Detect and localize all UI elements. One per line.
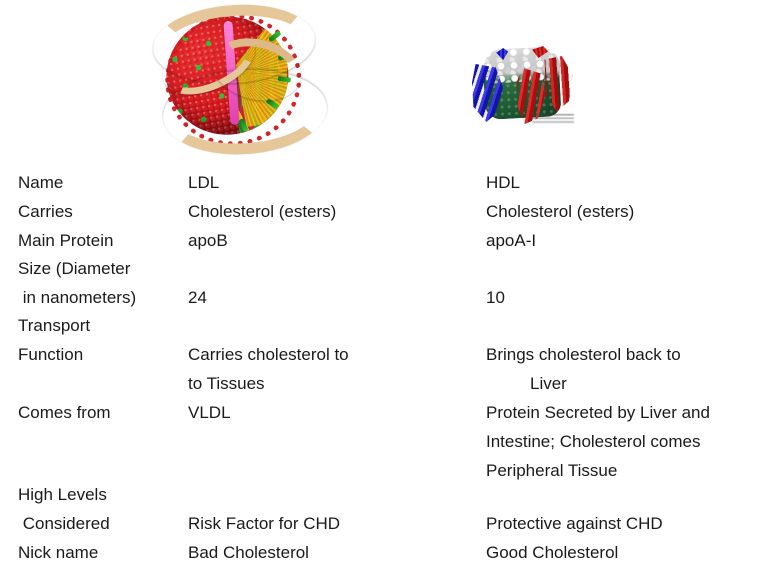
row-value-ldl-size: 24 (188, 285, 207, 311)
row-value-ldl-main-protein: apoB (188, 228, 228, 254)
row-label-carries: Carries (18, 199, 73, 225)
row-label-comes-from: Comes from (18, 400, 111, 426)
row-value-hdl-transport-line1: Brings cholesterol back to (486, 342, 681, 368)
row-label-name: Name (18, 170, 63, 196)
row-value-hdl-size: 10 (486, 285, 505, 311)
row-label-transport-line2: Function (18, 342, 83, 368)
hdl-image-credit (532, 114, 574, 123)
row-label-size-line2: in nanometers) (18, 285, 136, 311)
ldl-particle-image (160, 8, 302, 138)
row-label-high-levels-line2: Considered (18, 511, 110, 537)
row-value-ldl-comes-from: VLDL (188, 400, 231, 426)
row-label-high-levels-line1: High Levels (18, 482, 107, 508)
row-value-ldl-name: LDL (188, 170, 219, 196)
row-value-hdl-transport-line2: Liver (486, 371, 567, 397)
row-value-hdl-comes-from-line3: Peripheral Tissue (486, 458, 617, 484)
row-value-ldl-nick-name: Bad Cholesterol (188, 540, 309, 566)
row-label-transport-line1: Transport (18, 313, 90, 339)
row-value-hdl-comes-from-line2: Intestine; Cholesterol comes (486, 429, 701, 455)
ldl-particle-stage (150, 0, 312, 149)
row-value-ldl-transport-line1: Carries cholesterol to (188, 342, 349, 368)
row-value-ldl-high-levels: Risk Factor for CHD (188, 511, 340, 537)
row-label-size-line1: Size (Diameter (18, 256, 130, 282)
row-value-hdl-main-protein: apoA-I (486, 228, 536, 254)
row-label-nick-name: Nick name (18, 540, 98, 566)
row-value-ldl-transport-line2: to Tissues (188, 371, 265, 397)
row-value-hdl-name: HDL (486, 170, 520, 196)
row-value-hdl-comes-from-line1: Protein Secreted by Liver and (486, 400, 710, 426)
row-value-ldl-carries: Cholesterol (esters) (188, 199, 336, 225)
row-value-hdl-carries: Cholesterol (esters) (486, 199, 634, 225)
row-label-main-protein: Main Protein (18, 228, 113, 254)
hdl-molecule-image (470, 46, 576, 130)
row-value-hdl-high-levels: Protective against CHD (486, 511, 663, 537)
row-value-hdl-nick-name: Good Cholesterol (486, 540, 618, 566)
